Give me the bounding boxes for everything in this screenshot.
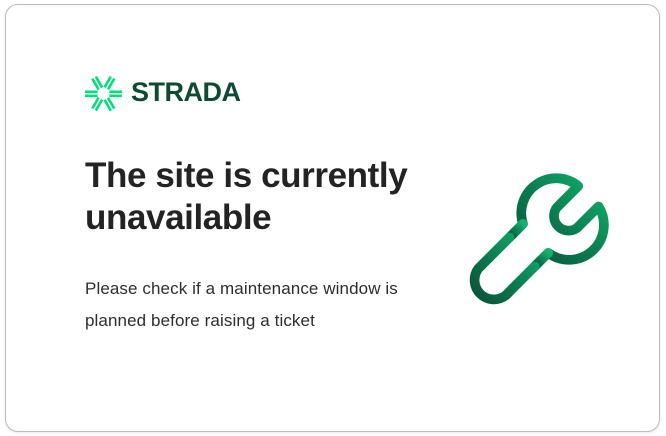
brand-wordmark: STRADA (131, 78, 281, 108)
page-description: Please check if a maintenance window is … (85, 273, 415, 337)
page-title: The site is currently unavailable (85, 155, 465, 239)
error-page: STRADA The site is currently unavailable… (0, 0, 666, 436)
wrench-icon (461, 155, 616, 315)
brand-wordmark-text: STRADA (131, 78, 241, 107)
status-card: STRADA The site is currently unavailable… (5, 4, 660, 432)
brand-logo: STRADA (85, 74, 281, 112)
strada-asterisk-icon (85, 74, 122, 112)
